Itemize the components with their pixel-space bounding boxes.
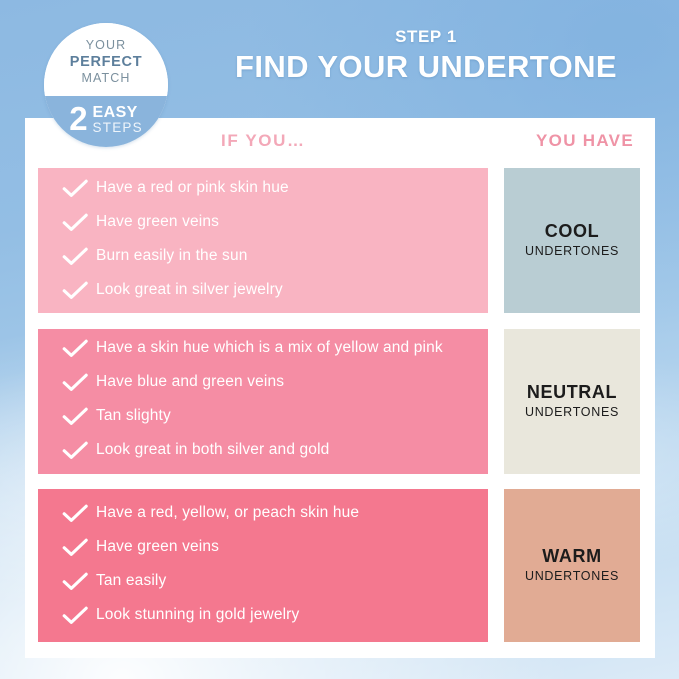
- list-item: Have a skin hue which is a mix of yellow…: [62, 338, 470, 364]
- checklist-item-label: Look great in both silver and gold: [96, 440, 329, 460]
- list-item: Have green veins: [62, 212, 470, 238]
- checklist-item-label: Tan slighty: [96, 406, 171, 426]
- checklist-panel: Have a red or pink skin hueHave green ve…: [38, 168, 488, 313]
- check-icon: [62, 179, 88, 204]
- list-item: Tan slighty: [62, 406, 470, 432]
- undertone-row: Have a red or pink skin hueHave green ve…: [38, 168, 640, 313]
- undertone-row: Have a skin hue which is a mix of yellow…: [38, 329, 640, 474]
- column-gap: [488, 489, 504, 642]
- check-icon: [62, 538, 88, 563]
- list-item: Have a red or pink skin hue: [62, 178, 470, 204]
- list-item: Have a red, yellow, or peach skin hue: [62, 503, 470, 529]
- badge-line-perfect: PERFECT: [70, 53, 143, 71]
- list-item: Tan easily: [62, 571, 470, 597]
- check-icon: [62, 606, 88, 631]
- badge-step-words: EASY STEPS: [93, 105, 143, 135]
- badge-label-steps: STEPS: [93, 121, 143, 135]
- undertone-swatch: COOLUNDERTONES: [504, 168, 640, 313]
- checklist-item-label: Have a red, yellow, or peach skin hue: [96, 503, 359, 523]
- checklist-item-label: Burn easily in the sun: [96, 246, 248, 266]
- list-item: Have green veins: [62, 537, 470, 563]
- list-item: Look stunning in gold jewelry: [62, 605, 470, 631]
- checklist-item-label: Have green veins: [96, 212, 219, 232]
- swatch-title: WARM: [542, 547, 601, 567]
- list-item: Have blue and green veins: [62, 372, 470, 398]
- badge-bottom-half: 2 EASY STEPS: [44, 96, 168, 147]
- checklist-item-label: Have green veins: [96, 537, 219, 557]
- undertone-swatch: WARMUNDERTONES: [504, 489, 640, 642]
- badge-label-easy: EASY: [93, 105, 138, 121]
- check-icon: [62, 213, 88, 238]
- perfect-match-badge: YOUR PERFECT MATCH 2 EASY STEPS: [44, 23, 168, 147]
- undertone-row: Have a red, yellow, or peach skin hueHav…: [38, 489, 640, 642]
- checklist-item-label: Look stunning in gold jewelry: [96, 605, 299, 625]
- swatch-title: COOL: [545, 222, 599, 242]
- swatch-subtitle: UNDERTONES: [525, 405, 619, 420]
- checklist-item-label: Have blue and green veins: [96, 372, 284, 392]
- checklist-item-label: Look great in silver jewelry: [96, 280, 283, 300]
- list-item: Look great in both silver and gold: [62, 440, 470, 466]
- check-icon: [62, 572, 88, 597]
- column-gap: [488, 168, 504, 313]
- check-icon: [62, 339, 88, 364]
- badge-line-your: YOUR: [86, 38, 127, 54]
- check-icon: [62, 441, 88, 466]
- swatch-title: NEUTRAL: [527, 383, 617, 403]
- check-icon: [62, 247, 88, 272]
- list-item: Look great in silver jewelry: [62, 280, 470, 306]
- undertone-swatch: NEUTRALUNDERTONES: [504, 329, 640, 474]
- check-icon: [62, 281, 88, 306]
- badge-top-half: YOUR PERFECT MATCH: [44, 23, 168, 96]
- check-icon: [62, 504, 88, 529]
- checklist-panel: Have a skin hue which is a mix of yellow…: [38, 329, 488, 474]
- checklist-item-label: Tan easily: [96, 571, 166, 591]
- check-icon: [62, 407, 88, 432]
- list-item: Burn easily in the sun: [62, 246, 470, 272]
- badge-step-count: 2: [69, 104, 87, 134]
- checklist-item-label: Have a skin hue which is a mix of yellow…: [96, 338, 443, 358]
- checklist-item-label: Have a red or pink skin hue: [96, 178, 289, 198]
- check-icon: [62, 373, 88, 398]
- column-gap: [488, 329, 504, 474]
- checklist-panel: Have a red, yellow, or peach skin hueHav…: [38, 489, 488, 642]
- swatch-subtitle: UNDERTONES: [525, 244, 619, 259]
- infographic-poster: YOUR PERFECT MATCH 2 EASY STEPS STEP 1 F…: [0, 0, 679, 679]
- swatch-subtitle: UNDERTONES: [525, 569, 619, 584]
- badge-line-match: MATCH: [81, 71, 130, 87]
